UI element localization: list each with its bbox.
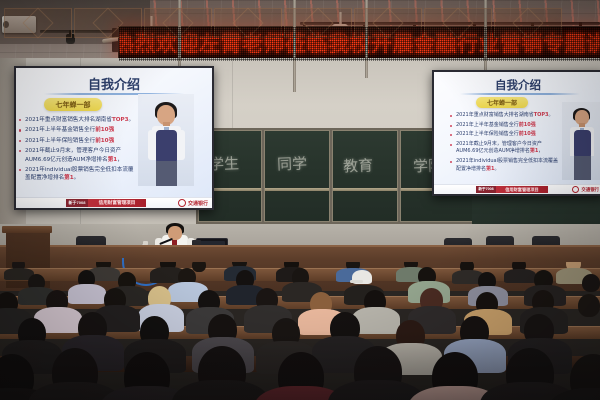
bank-logo-icon <box>178 199 186 207</box>
bullet-highlight: 第1 <box>108 157 118 163</box>
slide-bullet-list: 2021年重点财富销售大排名湖南省TOP3。 2021年上半年基金销售全行前10… <box>450 112 558 175</box>
slide-footer-logo: 交通银行 <box>178 199 208 207</box>
slide-bullet: 2021年上半年基金销售全行前10强 <box>18 126 138 134</box>
chalk-text: 同学 <box>277 152 308 174</box>
bullet-text: 2021年重点财富销售大排名湖南省 <box>25 117 112 123</box>
student-shoulders <box>504 269 536 283</box>
slide-title: 自我介绍 <box>434 77 600 93</box>
bullet-text: 2021年截止9月末，管理客户今日资产AUM6.69亿元创造AUM净增排名 <box>25 148 121 162</box>
bullet-text: 2021年上半年保险销售全行 <box>456 131 519 137</box>
slide-bullet: 2021年重点财富销售大排名湖南省TOP3。 <box>18 116 138 124</box>
projection-screen-right: 自我介绍 七年蝉一部 2021年重点财富销售大排名湖南省TOP3。 2021年上… <box>432 70 600 196</box>
bank-name: 交通银行 <box>188 200 208 207</box>
slide-badge: 七年蝉一部 <box>476 97 528 108</box>
lectern-top <box>2 226 52 233</box>
slide-bullet: 2021年上半年保险销售全行前10强 <box>450 131 558 139</box>
slide-bullet: 2021年上半年保险销售全行前10强 <box>18 137 138 145</box>
bullet-text: 2021年上半年基金销售全行 <box>456 122 519 128</box>
bullet-highlight: 前10强 <box>519 131 536 137</box>
bullet-text: 2021年上半年基金销售全行 <box>25 127 95 133</box>
slide-portrait-photo <box>562 102 600 180</box>
slide-footer-logo: 交通银行 <box>572 186 599 193</box>
slide-footer: 新于7008 信用财富管理项目 交通银行 <box>16 197 212 208</box>
slide-bullet: 2021年individual股票销售完全低扣本流覆盖配置净增排名第1。 <box>18 166 138 183</box>
slide-right: 自我介绍 七年蝉一部 2021年重点财富销售大排名湖南省TOP3。 2021年上… <box>434 72 600 194</box>
slide-portrait-photo <box>138 94 194 186</box>
student-shoulders <box>172 380 270 400</box>
bullet-highlight: TOP3 <box>534 112 549 118</box>
slide-left: 自我介绍 七年蝉一部 2021年重点财富销售大排名湖南省TOP3。 2021年上… <box>16 68 212 208</box>
slide-bullet: 2021年截止9月末，管理客户今日资产AUM6.69亿元创造AUM净增排名第1， <box>18 147 138 164</box>
bullet-highlight: 前10强 <box>519 122 536 128</box>
slide-bullet: 2021年上半年基金销售全行前10强 <box>450 122 558 130</box>
blackboard-panel: 教育 <box>332 130 398 222</box>
bullet-highlight: 第1 <box>486 166 494 172</box>
slide-footer-badge: 新于7008 <box>66 199 88 207</box>
slide-bullet: 2021年截止9月末，管理客户今日资产AUM6.69亿元创造AUM净增排名第1， <box>450 141 558 156</box>
bank-logo-icon <box>572 186 579 193</box>
slide-bullet: 2021年重点财富销售大排名湖南省TOP3。 <box>450 112 558 120</box>
chalk-text: 教育 <box>343 154 374 176</box>
lecture-hall-photo: 热烈欢迎左霄老师莅临我校开展金融行业营销专题讲座 学生 同学 教育 学院 <box>0 0 600 400</box>
bullet-highlight: TOP3 <box>112 117 129 123</box>
student-head <box>582 274 600 292</box>
bullet-highlight: 前10强 <box>95 138 114 144</box>
student-shoulders <box>68 284 106 304</box>
slide-footer-bar: 信用财富管理项目 <box>88 199 146 207</box>
student-head <box>578 294 600 317</box>
bullet-text: 2021年上半年保险销售全行 <box>25 138 95 144</box>
audience-seating <box>0 262 600 400</box>
slide-title: 自我介绍 <box>16 74 212 93</box>
bank-name: 交通银行 <box>581 187 599 193</box>
slide-bullet: 2021年individual股票销售完全低扣本流覆盖配置净增排名第1。 <box>450 158 558 173</box>
cap-brim <box>350 280 363 283</box>
bullet-highlight: 第1 <box>64 175 74 181</box>
slide-footer-badge: 新于7008 <box>476 186 496 193</box>
slide-bullet-list: 2021年重点财富销售大排名湖南省TOP3。 2021年上半年基金销售全行前10… <box>18 116 138 185</box>
slide-footer-bar: 信用财富管理项目 <box>496 186 548 193</box>
blackboard-panel: 同学 <box>264 130 330 222</box>
projection-screen-left: 自我介绍 七年蝉一部 2021年重点财富销售大排名湖南省TOP3。 2021年上… <box>14 66 214 210</box>
bullet-highlight: 前10强 <box>95 127 114 133</box>
slide-badge: 七年蝉一部 <box>44 98 102 111</box>
slide-footer: 新于7008 信用财富管理项目 交通银行 <box>434 184 600 194</box>
bullet-text: 2021年重点财富销售大排名湖南省 <box>456 112 534 118</box>
bullet-text: 2021年individual股票销售完全低扣本流覆盖配置净增排名 <box>456 158 558 172</box>
